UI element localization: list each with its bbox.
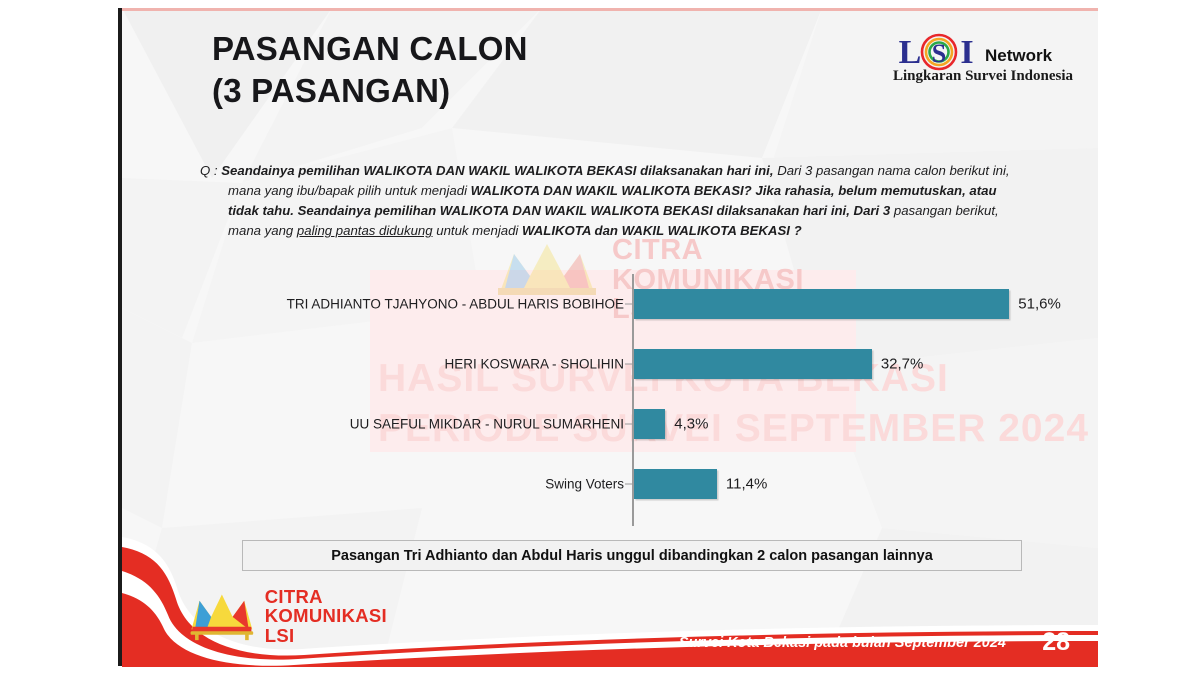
citra-line2: KOMUNIKASI: [265, 606, 387, 625]
bar-value-label: 32,7%: [881, 356, 924, 373]
lsi-network-logo: L S I Network Lingkaran Survei Indonesia: [890, 32, 1080, 88]
top-pink-rule: [122, 8, 1098, 11]
bar-category-label: UU SAEFUL MIKDAR - NURUL SUMARHENI: [350, 417, 624, 432]
bar-value-label: 4,3%: [674, 416, 708, 433]
question-line3-c: Dari 3: [854, 203, 891, 218]
axis-tick: [625, 484, 632, 485]
question-line3-b: WALIKOTA DAN WAKIL WALIKOTA BEKASI dilak…: [440, 203, 850, 218]
conclusion-text: Pasangan Tri Adhianto dan Abdul Haris un…: [331, 548, 933, 564]
left-gutter: [0, 0, 118, 675]
bar-rect: [634, 469, 717, 499]
question-line4-d: WALIKOTA dan WAKIL WALIKOTA BEKASI ?: [522, 223, 802, 238]
question-line4-a: mana yang: [228, 223, 293, 238]
citra-line1: CITRA: [265, 587, 387, 606]
page-title: PASANGAN CALON (3 PASANGAN): [212, 28, 528, 112]
question-line4-c: untuk menjadi: [436, 223, 518, 238]
bar-row: TRI ADHIANTO TJAHYONO - ABDUL HARIS BOBI…: [262, 276, 1052, 332]
bar-chart: TRI ADHIANTO TJAHYONO - ABDUL HARIS BOBI…: [262, 270, 1052, 528]
slide-root: PASANGAN CALON (3 PASANGAN) L S I Networ…: [0, 0, 1201, 675]
question-line2-b: WALIKOTA DAN WAKIL WALIKOTA BEKASI? Jika…: [471, 183, 997, 198]
citra-komunikasi-text: CITRA KOMUNIKASI LSI: [265, 587, 387, 644]
page-title-line1: PASANGAN CALON: [212, 28, 528, 70]
question-line1-b: Dari 3 pasangan nama calon berikut ini,: [777, 163, 1009, 178]
svg-text:S: S: [932, 39, 946, 68]
bar-row: UU SAEFUL MIKDAR - NURUL SUMARHENI4,3%: [262, 396, 1052, 452]
bar-rect: [634, 289, 1009, 319]
citra-komunikasi-logo: CITRA KOMUNIKASI LSI: [187, 585, 387, 647]
axis-tick: [625, 424, 632, 425]
bar-row: HERI KOSWARA - SHOLIHIN32,7%: [262, 336, 1052, 392]
bar-row: Swing Voters11,4%: [262, 456, 1052, 512]
question-line4-b: paling pantas didukung: [297, 223, 433, 238]
svg-text:Lingkaran Survei Indonesia: Lingkaran Survei Indonesia: [893, 68, 1074, 84]
bar-rect: [634, 409, 665, 439]
bar-category-label: Swing Voters: [545, 477, 624, 492]
question-line3-d: pasangan berikut,: [894, 203, 999, 218]
citra-line3: LSI: [265, 626, 387, 645]
bar-category-label: HERI KOSWARA - SHOLIHIN: [444, 357, 624, 372]
footer-caption: Survei Kota Bekasi pada bulan September …: [679, 635, 1006, 651]
bar-category-label: TRI ADHIANTO TJAHYONO - ABDUL HARIS BOBI…: [287, 297, 624, 312]
svg-text:I: I: [960, 34, 973, 71]
bar-rect: [634, 349, 872, 379]
question-line-1: Q : Seandainya pemilihan WALIKOTA DAN WA…: [200, 161, 1050, 181]
question-line-4: mana yang paling pantas didukung untuk m…: [200, 221, 1050, 241]
axis-tick: [625, 364, 632, 365]
lsi-logo-icon: L S I Network Lingkaran Survei Indonesia: [890, 32, 1080, 88]
question-line3-a: tidak tahu. Seandainya pemilihan: [228, 203, 436, 218]
bar-value-label: 11,4%: [726, 476, 767, 493]
svg-text:L: L: [899, 34, 922, 71]
question-line1-a: Seandainya pemilihan WALIKOTA DAN WAKIL …: [221, 163, 773, 178]
bar-value-label: 51,6%: [1018, 296, 1061, 313]
page-title-line2: (3 PASANGAN): [212, 70, 528, 112]
question-line2-a: mana yang ibu/bapak pilih untuk menjadi: [228, 183, 467, 198]
conclusion-banner: Pasangan Tri Adhianto dan Abdul Haris un…: [242, 540, 1022, 571]
axis-tick: [625, 304, 632, 305]
slide-canvas: PASANGAN CALON (3 PASANGAN) L S I Networ…: [122, 8, 1098, 667]
question-prefix: Q :: [200, 163, 218, 178]
question-block: Q : Seandainya pemilihan WALIKOTA DAN WA…: [200, 161, 1050, 241]
question-line-2: mana yang ibu/bapak pilih untuk menjadi …: [200, 181, 1050, 201]
question-line-3: tidak tahu. Seandainya pemilihan WALIKOT…: [200, 201, 1050, 221]
right-gutter: [1098, 0, 1201, 675]
svg-text:Network: Network: [985, 46, 1053, 65]
crown-icon: [187, 587, 257, 645]
left-black-rule: [118, 8, 122, 666]
page-number: 28: [1042, 628, 1070, 657]
